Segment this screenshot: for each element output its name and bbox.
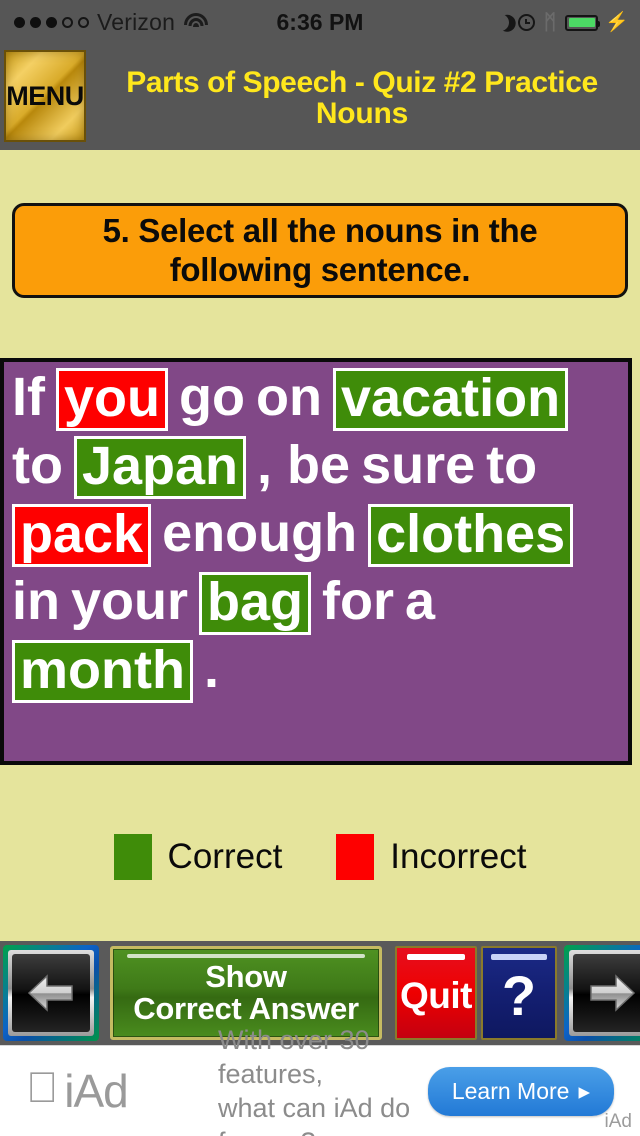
show-answer-line1: Show bbox=[205, 961, 286, 993]
sentence-word[interactable]: sure bbox=[361, 436, 475, 497]
sentence-word[interactable]: you bbox=[56, 368, 168, 431]
charging-bolt-icon: ⚡ bbox=[605, 13, 629, 32]
legend-item-correct: Correct bbox=[114, 834, 283, 880]
sentence-line: month. bbox=[12, 640, 624, 703]
menu-button-label: MENU bbox=[6, 81, 84, 112]
learn-more-label: Learn More bbox=[452, 1078, 570, 1105]
sentence-line: inyourbagfora bbox=[12, 572, 624, 635]
sentence-word[interactable]: on bbox=[256, 368, 322, 429]
battery-icon bbox=[565, 15, 598, 31]
page-title-line2: Nouns bbox=[316, 98, 408, 130]
sentence-word[interactable]: to bbox=[486, 436, 537, 497]
sentence-word[interactable]: vacation bbox=[333, 368, 568, 431]
do-not-disturb-moon-icon bbox=[489, 12, 511, 34]
legend-label-correct: Correct bbox=[168, 837, 283, 877]
right-arrow-icon bbox=[586, 971, 638, 1015]
next-question-button[interactable] bbox=[564, 945, 640, 1041]
legend-swatch-incorrect-icon bbox=[336, 834, 374, 880]
question-banner: 5. Select all the nouns in the following… bbox=[12, 203, 628, 298]
sentence-word[interactable]: a bbox=[405, 572, 435, 633]
legend-swatch-correct-icon bbox=[114, 834, 152, 880]
question-text: 5. Select all the nouns in the following… bbox=[29, 212, 611, 289]
status-bar-right: ᛗ ⚡ bbox=[422, 12, 640, 33]
sentence-line: toJapan, besureto bbox=[12, 436, 624, 499]
iad-copy-line1: With over 30 features, bbox=[218, 1023, 428, 1091]
help-button[interactable]: ? bbox=[481, 946, 557, 1040]
status-bar-clock: 6:36 PM bbox=[218, 9, 423, 36]
sentence-panel[interactable]: IfyougoonvacationtoJapan, besuretopacken… bbox=[0, 358, 632, 765]
left-arrow-icon bbox=[25, 971, 77, 1015]
sentence-word[interactable]: . bbox=[204, 640, 219, 701]
chevron-right-icon: ▸ bbox=[578, 1078, 590, 1105]
iad-brand-label: iAd bbox=[64, 1064, 127, 1118]
sentence-word[interactable]: enough bbox=[162, 504, 357, 565]
quit-button-label: Quit bbox=[400, 975, 472, 1017]
status-bar: Verizon 6:36 PM ᛗ ⚡ bbox=[0, 0, 640, 45]
iad-corner-tag: iAd bbox=[605, 1111, 632, 1133]
status-bar-left: Verizon bbox=[0, 9, 218, 36]
legend-label-incorrect: Incorrect bbox=[390, 837, 526, 877]
apple-logo-icon:  bbox=[26, 1067, 58, 1110]
sentence-word[interactable]: bag bbox=[199, 572, 311, 635]
sentence-word[interactable]: go bbox=[179, 368, 245, 429]
sentence-word[interactable]: , be bbox=[257, 436, 350, 497]
sentence-word[interactable]: pack bbox=[12, 504, 151, 567]
sentence-line: packenoughclothes bbox=[12, 504, 624, 567]
show-answer-line2: Correct Answer bbox=[133, 993, 359, 1025]
sentence-word[interactable]: clothes bbox=[368, 504, 573, 567]
help-button-label: ? bbox=[502, 971, 536, 1021]
app-screen: Verizon 6:36 PM ᛗ ⚡ MENU Parts of Speech… bbox=[0, 0, 640, 1136]
sentence-word[interactable]: month bbox=[12, 640, 193, 703]
bluetooth-icon: ᛗ bbox=[544, 12, 557, 33]
legend: Correct Incorrect bbox=[0, 833, 640, 881]
sentence-word[interactable]: Japan bbox=[74, 436, 246, 499]
sentence-word[interactable]: to bbox=[12, 436, 63, 497]
iad-copy-line2: what can iAd do for you? bbox=[218, 1091, 428, 1136]
wifi-icon bbox=[183, 13, 209, 32]
alarm-clock-icon bbox=[518, 14, 535, 31]
sentence-word[interactable]: If bbox=[12, 368, 45, 429]
sentence-word[interactable]: in bbox=[12, 572, 60, 633]
menu-button[interactable]: MENU bbox=[4, 50, 86, 142]
iad-banner[interactable]:  iAd With over 30 features, what can iA… bbox=[0, 1045, 640, 1136]
title-bar: MENU Parts of Speech - Quiz #2 Practice … bbox=[0, 45, 640, 150]
sentence-line: Ifyougoonvacation bbox=[12, 368, 624, 431]
previous-question-button[interactable] bbox=[3, 945, 99, 1041]
iad-copy: With over 30 features, what can iAd do f… bbox=[218, 1023, 428, 1136]
carrier-label: Verizon bbox=[97, 9, 175, 36]
iad-logo:  iAd bbox=[0, 1064, 218, 1118]
page-title-line1: Parts of Speech - Quiz #2 Practice bbox=[126, 67, 598, 99]
learn-more-button[interactable]: Learn More ▸ bbox=[428, 1067, 614, 1116]
signal-strength-icon bbox=[14, 17, 89, 28]
sentence-word[interactable]: for bbox=[322, 572, 394, 633]
sentence-word[interactable]: your bbox=[71, 572, 188, 633]
legend-item-incorrect: Incorrect bbox=[336, 834, 526, 880]
page-title: Parts of Speech - Quiz #2 Practice Nouns bbox=[92, 51, 632, 145]
